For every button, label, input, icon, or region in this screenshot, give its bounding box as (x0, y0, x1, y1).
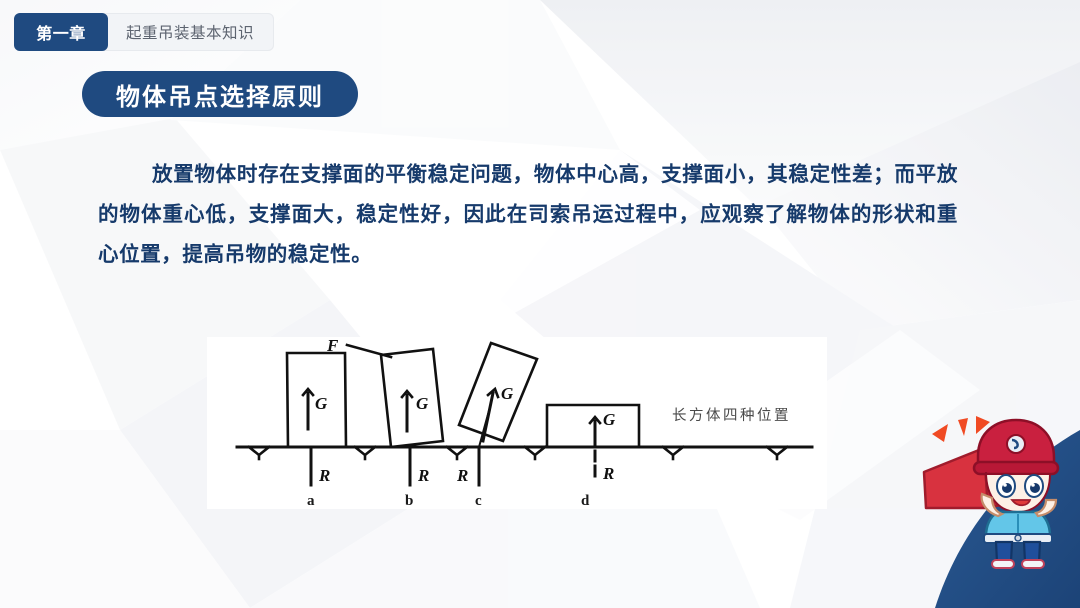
force-label-R-b: R (417, 466, 429, 485)
mascot-legs (992, 542, 1044, 568)
mascot-body (984, 512, 1052, 543)
force-label-R-c: R (456, 466, 468, 485)
figure-position-label-a: a (307, 493, 315, 509)
force-label-G-a: G (315, 394, 328, 413)
force-label-G-b: G (416, 394, 429, 413)
force-label-G-c: G (501, 384, 514, 403)
red-hard-hat-icon (974, 420, 1058, 474)
figure-caption: 长方体四种位置 (672, 404, 791, 425)
chapter-title-label: 起重吊装基本知识 (108, 13, 274, 51)
force-label-G-d: G (603, 410, 616, 429)
figure-position-label-d: d (581, 493, 590, 509)
body-paragraph: 放置物体时存在支撑面的平衡稳定问题，物体中心高，支撑面小，其稳定性差；而平放的物… (98, 155, 958, 275)
safety-worker-mascot (918, 412, 1078, 572)
figure-position-label-c: c (475, 493, 482, 509)
section-title-pill: 物体吊点选择原则 (82, 71, 358, 117)
chapter-tab-row[interactable]: 第一章 起重吊装基本知识 (14, 13, 274, 51)
force-label-R-a: R (318, 466, 330, 485)
chapter-badge[interactable]: 第一章 (14, 13, 108, 51)
force-label-F-b: F (326, 337, 339, 355)
figure-position-label-b: b (405, 493, 413, 509)
force-label-R-d: R (602, 464, 614, 483)
